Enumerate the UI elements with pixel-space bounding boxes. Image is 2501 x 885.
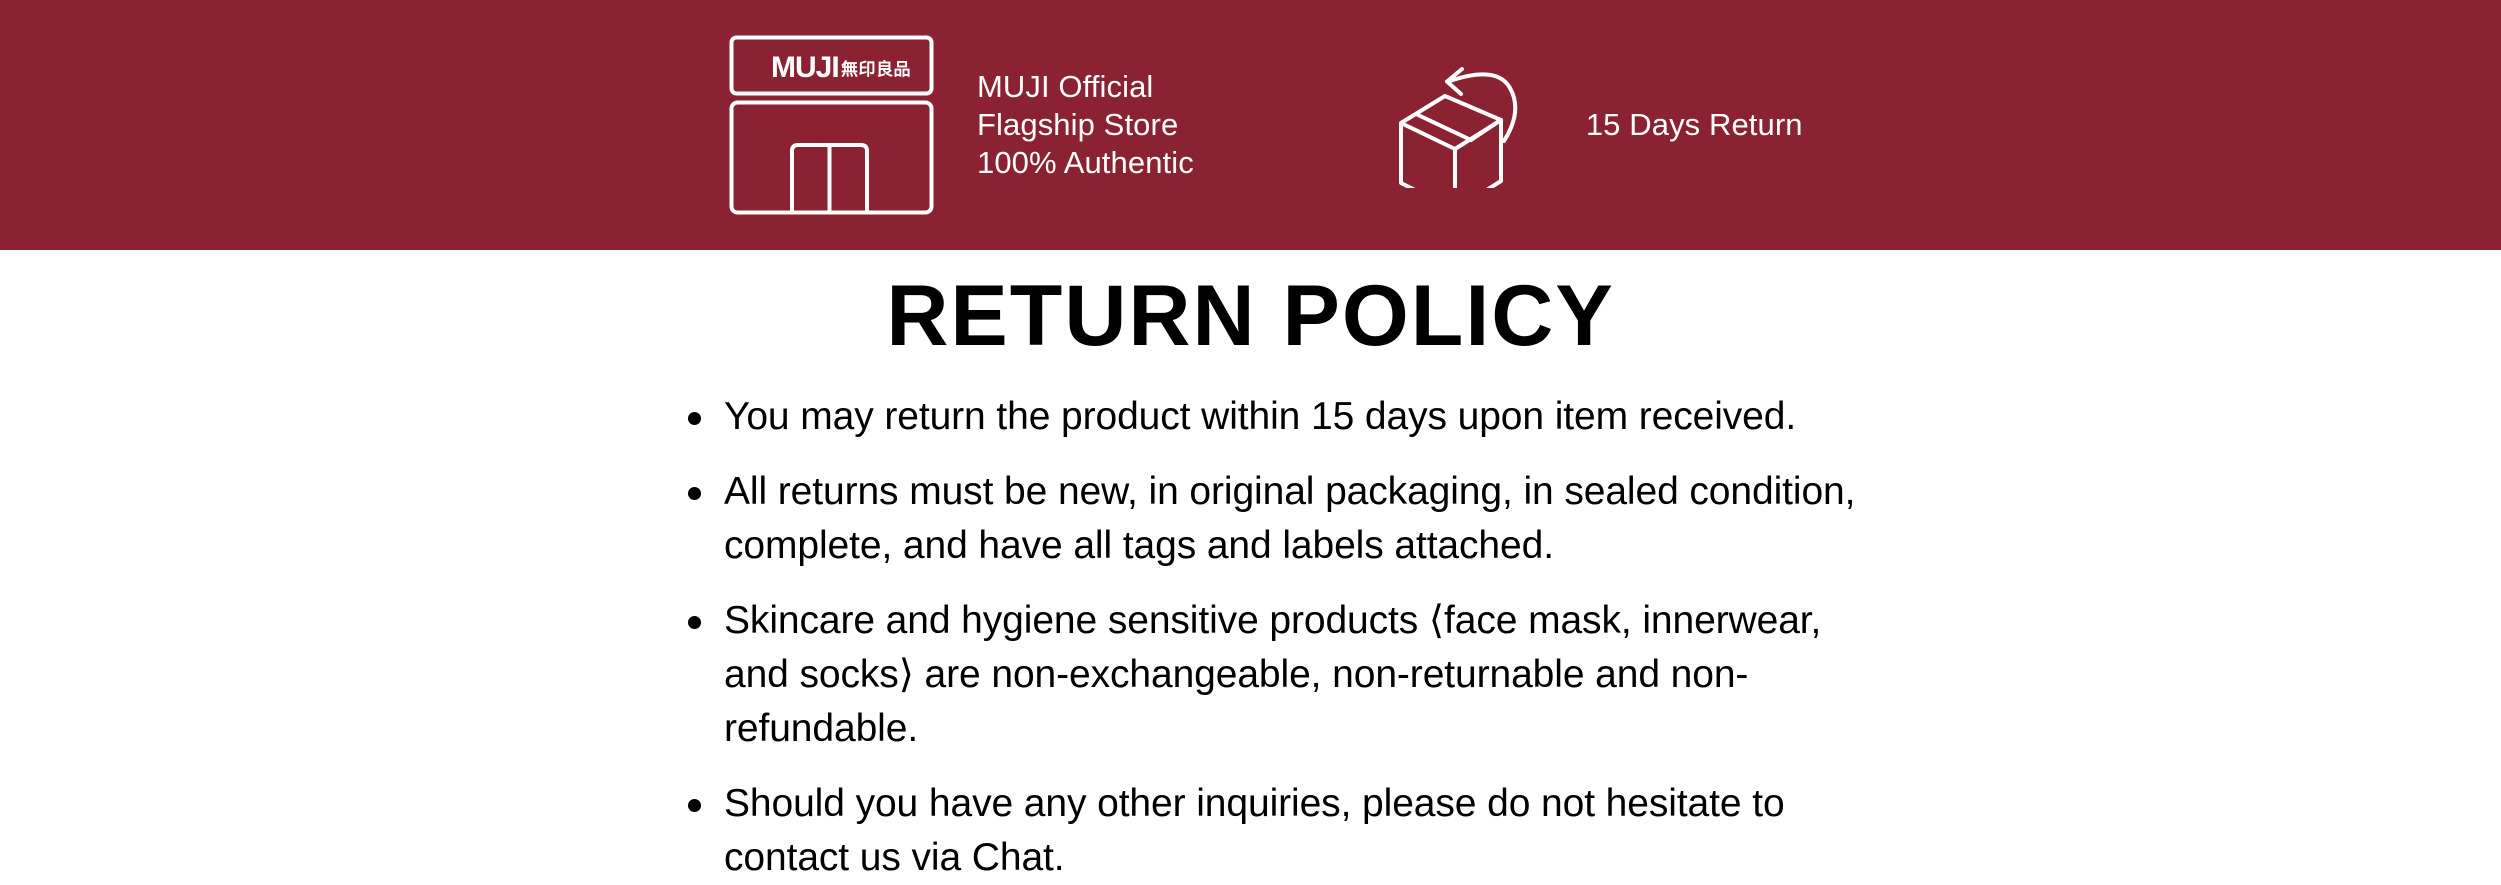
- policy-bullet-list: You may return the product within 15 day…: [688, 390, 1868, 885]
- policy-text: All returns must be new, in original pac…: [724, 465, 1868, 573]
- store-description: MUJI Official Flagship Store 100% Authen…: [977, 68, 1194, 182]
- return-policy-group: 15 Days Return: [1397, 63, 1803, 188]
- policy-text: Skincare and hygiene sensitive products …: [724, 594, 1868, 756]
- bullet-point-icon: [688, 616, 701, 629]
- list-item: Should you have any other inquiries, ple…: [688, 777, 1868, 885]
- bullet-point-icon: [688, 487, 701, 500]
- return-days-label: 15 Days Return: [1586, 106, 1803, 144]
- bullet-point-icon: [688, 412, 701, 425]
- return-box-icon: [1397, 63, 1557, 188]
- muji-logo-japanese: 無印良品: [841, 59, 911, 80]
- list-item: All returns must be new, in original pac…: [688, 465, 1868, 573]
- page-title: RETURN POLICY: [0, 268, 2501, 364]
- bullet-point-icon: [688, 799, 701, 812]
- list-item: Skincare and hygiene sensitive products …: [688, 594, 1868, 756]
- policy-content: RETURN POLICY You may return the product…: [0, 250, 2501, 885]
- policy-text: Should you have any other inquiries, ple…: [724, 777, 1868, 885]
- store-line-1: MUJI Official: [977, 68, 1194, 106]
- muji-logo-latin: MUJI: [771, 51, 839, 84]
- promo-banner: MUJI 無印良品 MUJI Official Flagship Store 1…: [0, 0, 2501, 250]
- store-line-2: Flagship Store: [977, 106, 1194, 144]
- banner-content: MUJI 無印良品 MUJI Official Flagship Store 1…: [729, 0, 1803, 250]
- muji-storefront-icon: MUJI 無印良品: [729, 35, 934, 215]
- list-item: You may return the product within 15 day…: [688, 390, 1868, 444]
- store-line-3: 100% Authentic: [977, 144, 1194, 182]
- policy-text: You may return the product within 15 day…: [724, 390, 1868, 444]
- official-store-group: MUJI 無印良品 MUJI Official Flagship Store 1…: [729, 35, 1194, 215]
